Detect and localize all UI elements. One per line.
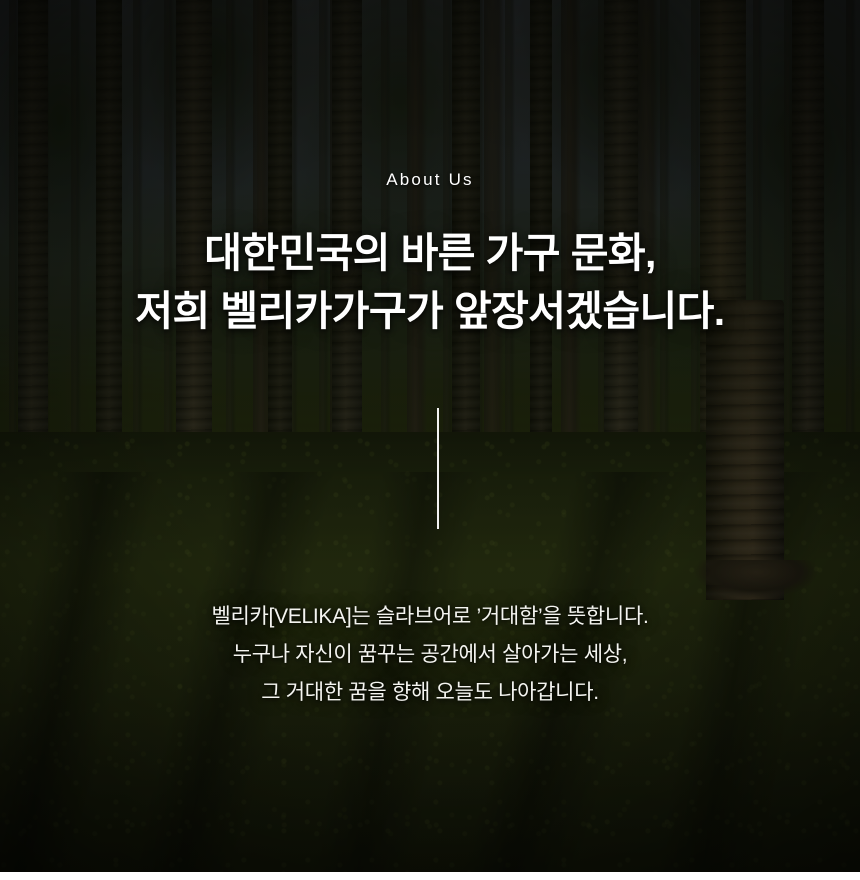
brand-description-line-1: 벨리카[VELIKA]는 슬라브어로 ’거대함’을 뜻합니다. xyxy=(0,598,860,636)
page-title-line-2: 저희 벨리카가구가 앞장서겠습니다. xyxy=(0,282,860,340)
about-us-hero-section: About Us 대한민국의 바른 가구 문화, 저희 벨리카가구가 앞장서겠습… xyxy=(0,0,860,872)
page-title: 대한민국의 바른 가구 문화, 저희 벨리카가구가 앞장서겠습니다. xyxy=(0,224,860,340)
brand-description-line-2: 누구나 자신이 꿈꾸는 공간에서 살아가는 세상, xyxy=(0,636,860,674)
brand-description-text: 벨리카[VELIKA]는 슬라브어로 ’거대함’을 뜻합니다. 누구나 자신이 … xyxy=(0,598,860,713)
hero-content: About Us 대한민국의 바른 가구 문화, 저희 벨리카가구가 앞장서겠습… xyxy=(0,0,860,872)
bottom-white-strip xyxy=(0,872,860,880)
vertical-divider-line xyxy=(437,408,439,529)
section-eyebrow-label: About Us xyxy=(0,170,860,190)
brand-description-line-3: 그 거대한 꿈을 향해 오늘도 나아갑니다. xyxy=(0,674,860,712)
page-title-line-1: 대한민국의 바른 가구 문화, xyxy=(0,224,860,282)
